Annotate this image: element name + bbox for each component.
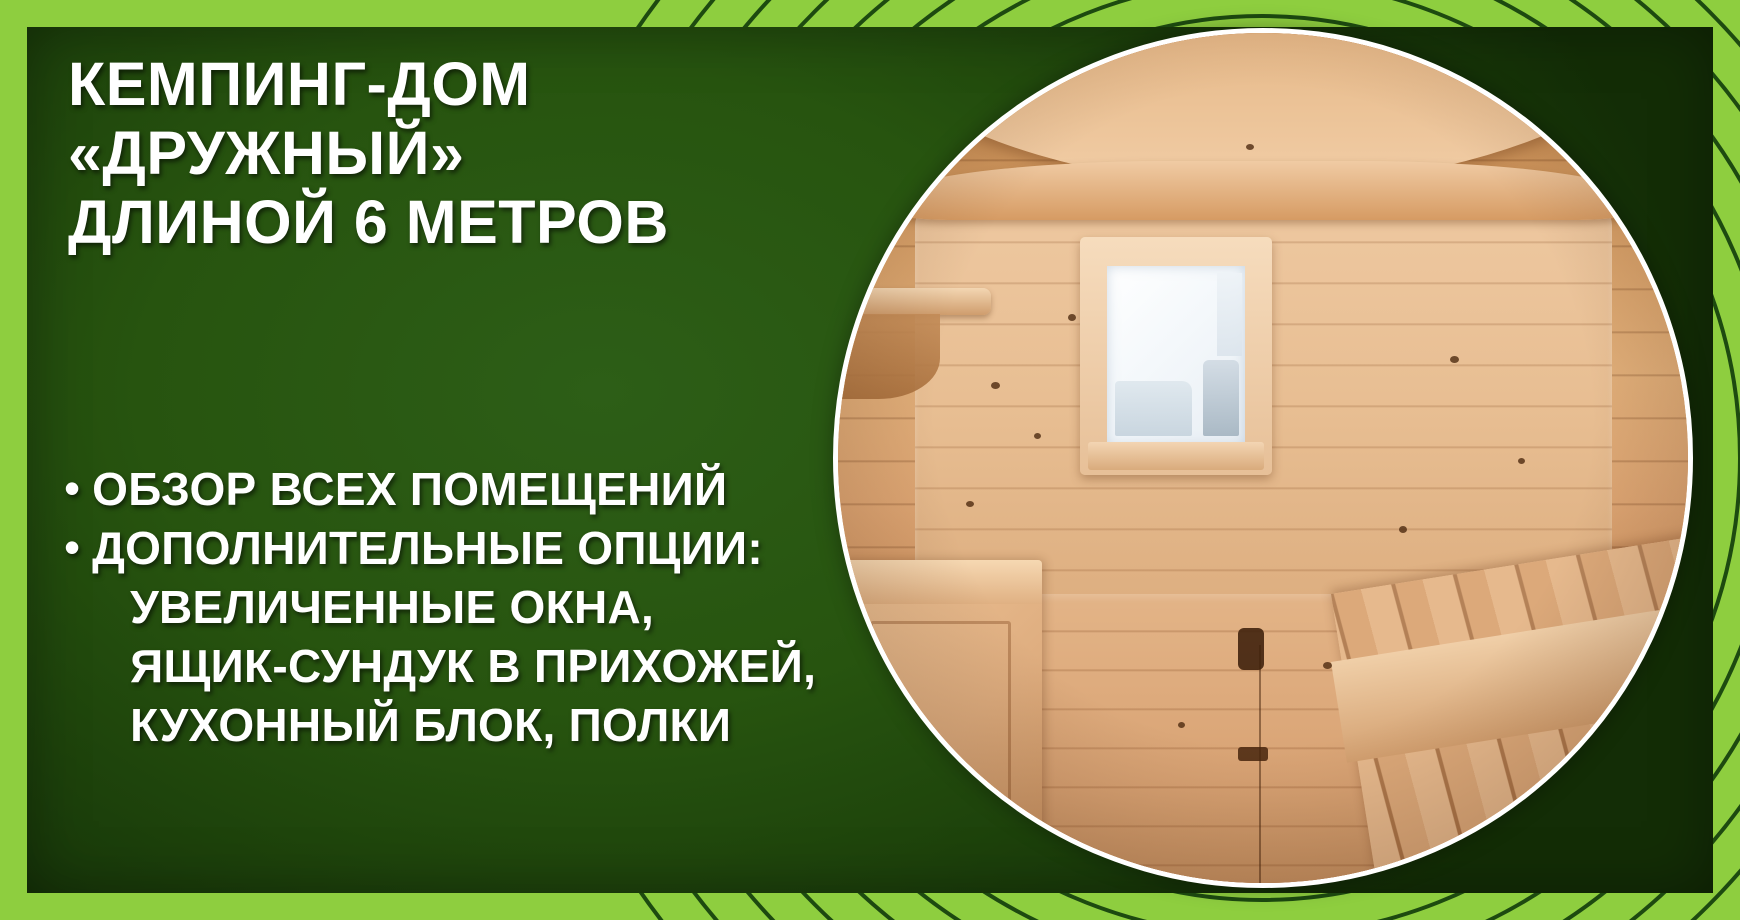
bullet-dot-icon: •: [64, 460, 80, 518]
wood-knot: [1178, 722, 1185, 728]
list-item: • ОБЗОР ВСЕХ ПОМЕЩЕНИЙ: [64, 460, 844, 519]
text-column: КЕМПИНГ-ДОМ «ДРУЖНЫЙ» ДЛИНОЙ 6 МЕТРОВ • …: [44, 20, 834, 850]
feature-list: • ОБЗОР ВСЕХ ПОМЕЩЕНИЙ • ДОПОЛНИТЕЛЬНЫЕ …: [64, 460, 844, 754]
photo-content: [838, 33, 1688, 883]
outside-object-3: [1217, 273, 1242, 356]
ceiling-lip: [872, 161, 1654, 221]
wood-knot: [1399, 526, 1407, 533]
bullet-2-line-3: ЯЩИК-СУНДУК В ПРИХОЖЕЙ,: [130, 637, 844, 696]
bullet-dot-icon: •: [64, 519, 80, 577]
title-line-3: ДЛИНОЙ 6 МЕТРОВ: [68, 188, 808, 257]
bullet-2-line-4: КУХОННЫЙ БЛОК, ПОЛКИ: [130, 696, 844, 755]
wood-knot: [1518, 458, 1525, 464]
page-title: КЕМПИНГ-ДОМ «ДРУЖНЫЙ» ДЛИНОЙ 6 МЕТРОВ: [68, 50, 808, 257]
cabinet-door: [870, 621, 1011, 883]
seat-latch: [1238, 747, 1268, 761]
wood-knot: [1450, 356, 1459, 363]
wood-knot: [1068, 314, 1076, 321]
bullet-1-line-1: ОБЗОР ВСЕХ ПОМЕЩЕНИЙ: [92, 460, 844, 519]
title-line-1: КЕМПИНГ-ДОМ: [68, 50, 808, 119]
bullet-2-line-2: УВЕЛИЧЕННЫЕ ОКНА,: [130, 578, 844, 637]
interior-photo: [833, 28, 1693, 888]
outside-object-1: [1115, 381, 1192, 435]
bullet-2-line-1: ДОПОЛНИТЕЛЬНЫЕ ОПЦИИ:: [92, 519, 844, 578]
window-sill: [1088, 442, 1264, 471]
window-frame: [1080, 237, 1271, 475]
promo-banner: КЕМПИНГ-ДОМ «ДРУЖНЫЙ» ДЛИНОЙ 6 МЕТРОВ • …: [0, 0, 1740, 920]
seat-seam: [1259, 645, 1261, 883]
hanging-rod: [838, 288, 991, 315]
title-line-2: «ДРУЖНЫЙ»: [68, 119, 808, 188]
wall-hook: [1238, 628, 1264, 670]
wood-knot: [991, 382, 1000, 389]
cabinet-top: [838, 560, 1042, 604]
wood-knot: [1034, 433, 1041, 439]
outside-object-2: [1203, 360, 1239, 436]
wood-knot: [1246, 144, 1254, 150]
list-item: • ДОПОЛНИТЕЛЬНЫЕ ОПЦИИ: УВЕЛИЧЕННЫЕ ОКНА…: [64, 519, 844, 755]
bullet-text-2: ДОПОЛНИТЕЛЬНЫЕ ОПЦИИ: УВЕЛИЧЕННЫЕ ОКНА, …: [92, 519, 844, 755]
bullet-text-1: ОБЗОР ВСЕХ ПОМЕЩЕНИЙ: [92, 460, 844, 519]
wood-knot: [1323, 662, 1332, 669]
wood-knot: [966, 501, 974, 507]
window-glass: [1107, 266, 1245, 447]
kitchen-cabinet: [838, 560, 1042, 883]
